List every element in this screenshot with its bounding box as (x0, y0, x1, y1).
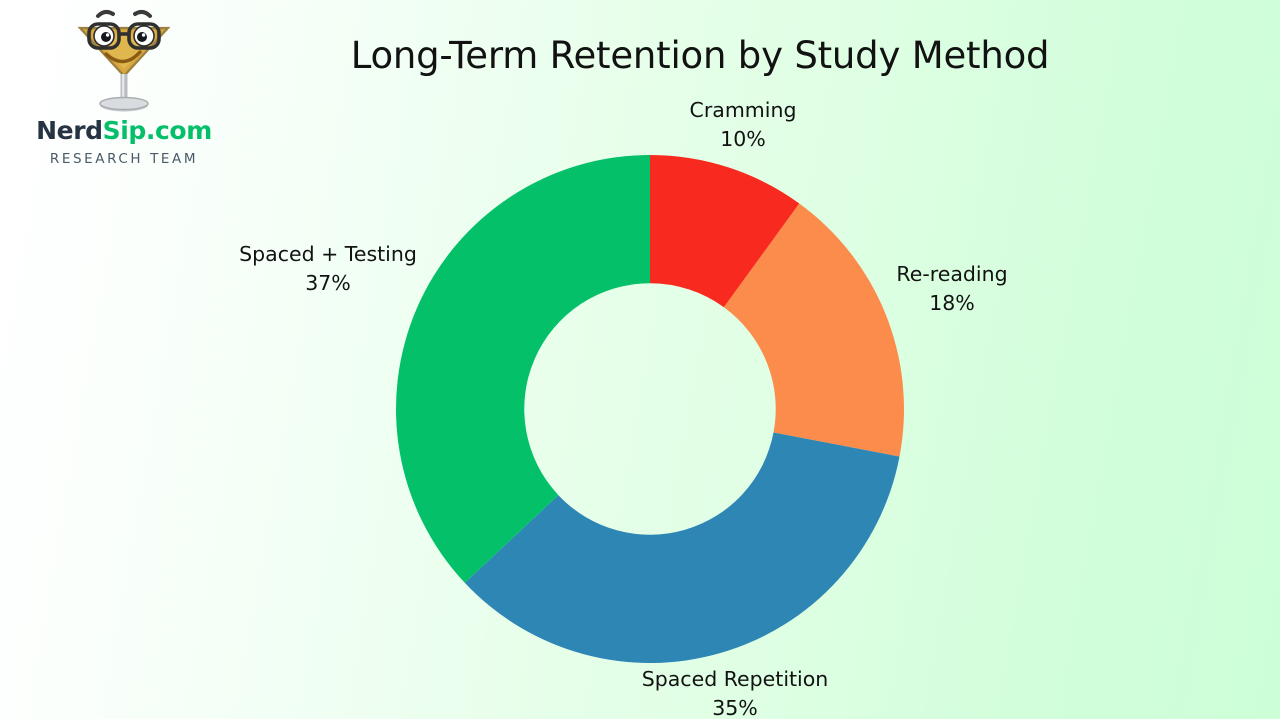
donut-slice-spaced-testing[interactable] (396, 155, 650, 583)
slice-label-re-reading-name: Re-reading (896, 262, 1007, 286)
donut-slice-group (396, 155, 904, 663)
slice-label-cramming-name: Cramming (690, 98, 797, 122)
brand-name: NerdSip.com (14, 118, 234, 143)
slice-label-spaced-repetition-name: Spaced Repetition (642, 667, 829, 691)
slice-label-spaced-testing: Spaced + Testing 37% (228, 240, 428, 298)
slice-label-spaced-repetition-value: 35% (635, 694, 835, 719)
slice-label-cramming-value: 10% (643, 125, 843, 154)
slice-label-spaced-repetition: Spaced Repetition 35% (635, 665, 835, 719)
brand-name-part2: Sip.com (103, 116, 212, 145)
slide-canvas: NerdSip.com RESEARCH TEAM Long-Term Rete… (0, 0, 1280, 719)
brand-tagline: RESEARCH TEAM (14, 151, 234, 167)
slice-label-cramming: Cramming 10% (643, 96, 843, 154)
brand-logo-block: NerdSip.com RESEARCH TEAM (14, 6, 234, 167)
brand-name-part1: Nerd (36, 116, 103, 145)
slice-label-spaced-testing-value: 37% (228, 269, 428, 298)
chart-title: Long-Term Retention by Study Method (0, 34, 1280, 77)
slice-label-re-reading: Re-reading 18% (852, 260, 1052, 318)
slice-label-re-reading-value: 18% (852, 289, 1052, 318)
slice-label-spaced-testing-name: Spaced + Testing (239, 242, 417, 266)
